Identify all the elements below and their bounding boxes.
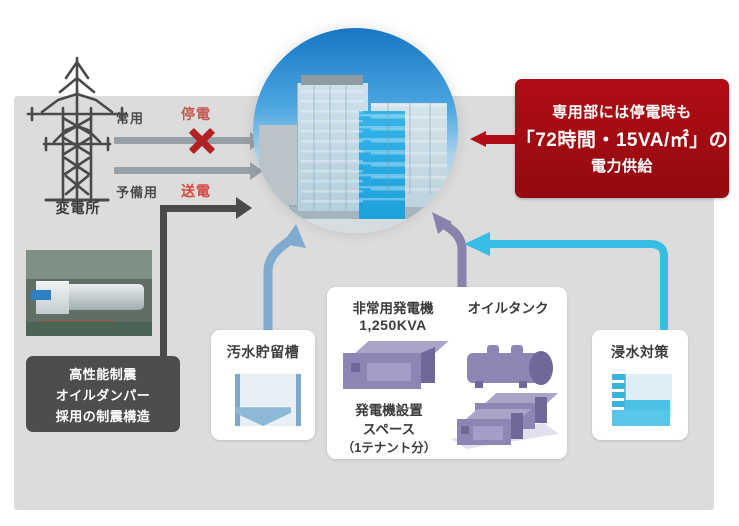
callout-arrow-icon bbox=[470, 131, 518, 147]
office-building-photo bbox=[253, 28, 458, 233]
water-tank-icon bbox=[235, 374, 291, 426]
power-supply-callout: 専用部には停電時も 「72時間・15VA/㎡」の 電力供給 bbox=[515, 79, 729, 198]
damper-connector-arrowhead bbox=[236, 197, 252, 219]
generator-space-line-2: スペース bbox=[331, 418, 447, 438]
flow-bar-normal bbox=[114, 137, 254, 144]
flood-water-level-icon bbox=[612, 374, 670, 426]
callout-line-2: 「72時間・15VA/㎡」の bbox=[516, 125, 729, 152]
oil-damper-photo bbox=[26, 250, 152, 336]
damper-caption-line-1: 高性能制震 bbox=[69, 364, 137, 383]
flow-bar-backup bbox=[114, 167, 254, 174]
infographic-canvas: 変電所 常用 停電 予備用 送電 bbox=[0, 0, 739, 526]
damper-caption-line-3: 採用の制震構造 bbox=[56, 406, 151, 425]
damper-caption-box: 高性能制震 オイルダンパー 採用の制震構造 bbox=[26, 356, 180, 432]
flood-card-title: 浸水対策 bbox=[592, 342, 688, 362]
substation-label: 変電所 bbox=[18, 198, 138, 218]
oil-tank-title: オイルタンク bbox=[455, 297, 561, 317]
damper-connector-horizontal bbox=[160, 205, 238, 212]
flow-status-supply: 送電 bbox=[181, 181, 211, 201]
generator-space-icon bbox=[451, 393, 559, 451]
oil-tank-icon bbox=[463, 343, 555, 389]
flow-label-normal: 常用 bbox=[116, 108, 144, 127]
damper-caption-line-2: オイルダンパー bbox=[56, 385, 151, 404]
sewage-to-building-arrow bbox=[250, 218, 320, 338]
generator-space-line-3: （1テナント分） bbox=[331, 437, 447, 456]
generator-unit-icon bbox=[343, 341, 435, 391]
damper-connector-vertical bbox=[160, 205, 167, 365]
callout-line-3: 電力供給 bbox=[591, 155, 653, 176]
flow-label-backup: 予備用 bbox=[116, 182, 158, 201]
generator-capacity: 1,250KVA bbox=[335, 317, 451, 333]
card-flood-countermeasure: 浸水対策 bbox=[592, 330, 688, 440]
generator-space-line-1: 発電機設置 bbox=[331, 399, 447, 419]
card-sewage-tank: 汚水貯留槽 bbox=[211, 330, 315, 440]
callout-line-1: 専用部には停電時も bbox=[552, 101, 692, 122]
x-mark-icon bbox=[185, 124, 219, 158]
sewage-card-title: 汚水貯留槽 bbox=[211, 342, 315, 362]
flow-status-outage: 停電 bbox=[181, 104, 211, 124]
card-emergency-generator: 非常用発電機 1,250KVA オイルタンク 発電機設置 スペース （1テナント… bbox=[327, 287, 567, 459]
generator-title: 非常用発電機 bbox=[335, 297, 451, 317]
